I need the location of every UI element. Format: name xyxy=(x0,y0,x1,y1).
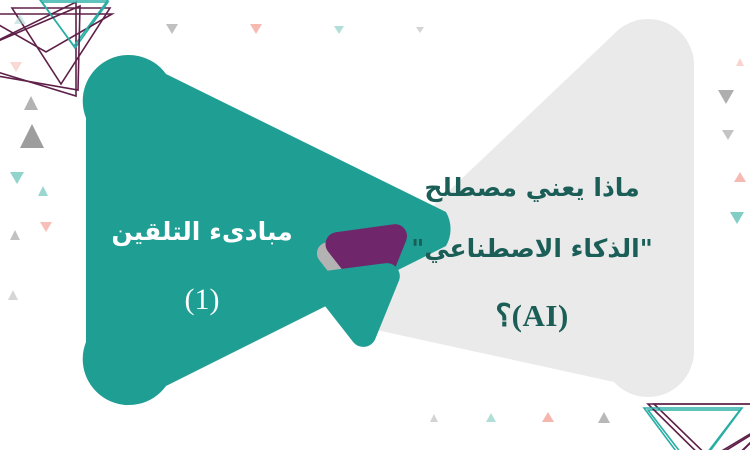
left-panel-title: مبادىء التلقين xyxy=(92,217,312,248)
slide-canvas: مبادىء التلقين (1) ماذا يعني مصطلح "الذك… xyxy=(0,0,750,450)
question-line-3: (AI)؟ xyxy=(382,297,682,335)
left-panel-number: (1) xyxy=(92,282,312,319)
left-panel-text: مبادىء التلقين (1) xyxy=(92,186,312,349)
question-line-1: ماذا يعني مصطلح xyxy=(382,173,682,204)
question-line-2: "الذكاء الاصطناعي" xyxy=(382,234,682,265)
right-panel-question: ماذا يعني مصطلح "الذكاء الاصطناعي" (AI)؟ xyxy=(382,142,682,365)
